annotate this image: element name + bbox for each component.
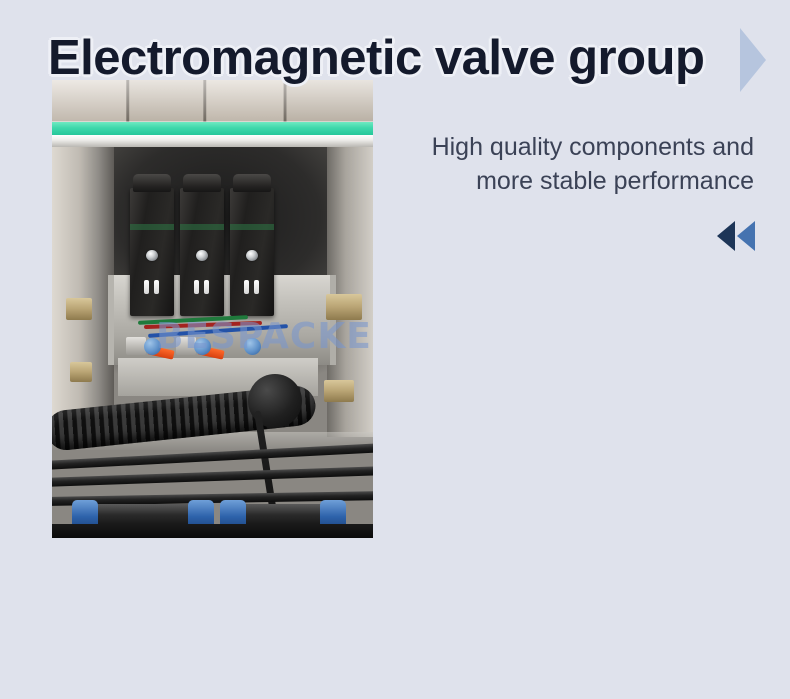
photo-coil-cap (133, 174, 171, 192)
photo-green-belt (52, 122, 373, 135)
product-photo-content: BESPACKER (52, 80, 373, 538)
photo-coil-band (230, 224, 274, 230)
photo-coil-band (180, 224, 224, 230)
page-subtitle-line-1: High quality components and (354, 130, 754, 164)
page-title: Electromagnetic valve group (48, 26, 704, 90)
photo-coil-cap (233, 174, 271, 192)
photo-machine-left-panel (52, 147, 114, 433)
photo-coil-screw (146, 250, 158, 261)
photo-brass-fitting (70, 362, 92, 382)
photo-brass-fitting (326, 294, 362, 320)
photo-coil-cap (183, 174, 221, 192)
photo-coil-slot (204, 280, 209, 294)
photo-solenoid-coil (130, 188, 174, 316)
photo-coil-slot (194, 280, 199, 294)
photo-connector-body (82, 504, 202, 526)
photo-solenoid-coil (180, 188, 224, 316)
product-photo: BESPACKER (52, 80, 373, 538)
photo-fitting-nut (126, 337, 146, 355)
page-subtitle: High quality components and more stable … (354, 130, 754, 198)
photo-bottom-shadow (52, 524, 373, 538)
page-subtitle-line-2: more stable performance (354, 164, 754, 198)
photo-brass-fitting (324, 380, 354, 402)
photo-blue-collar (144, 338, 161, 355)
photo-blue-collar (194, 338, 211, 355)
photo-coil-slot (244, 280, 249, 294)
product-feature-panel: BESPACKER Electromagnetic valve group Hi… (0, 0, 790, 699)
photo-coil-screw (196, 250, 208, 261)
photo-fitting-nut (176, 337, 196, 355)
double-chevron-left-icon[interactable] (715, 219, 757, 253)
photo-coil-slot (154, 280, 159, 294)
photo-coil-band (130, 224, 174, 230)
photo-coil-slot (144, 280, 149, 294)
triangle-right-icon (740, 28, 766, 92)
photo-solenoid-coil (230, 188, 274, 316)
photo-brass-fitting (66, 298, 92, 320)
photo-blue-collar (244, 338, 261, 355)
photo-coil-slot (254, 280, 259, 294)
photo-coil-screw (246, 250, 258, 261)
photo-silver-rail (52, 135, 373, 147)
